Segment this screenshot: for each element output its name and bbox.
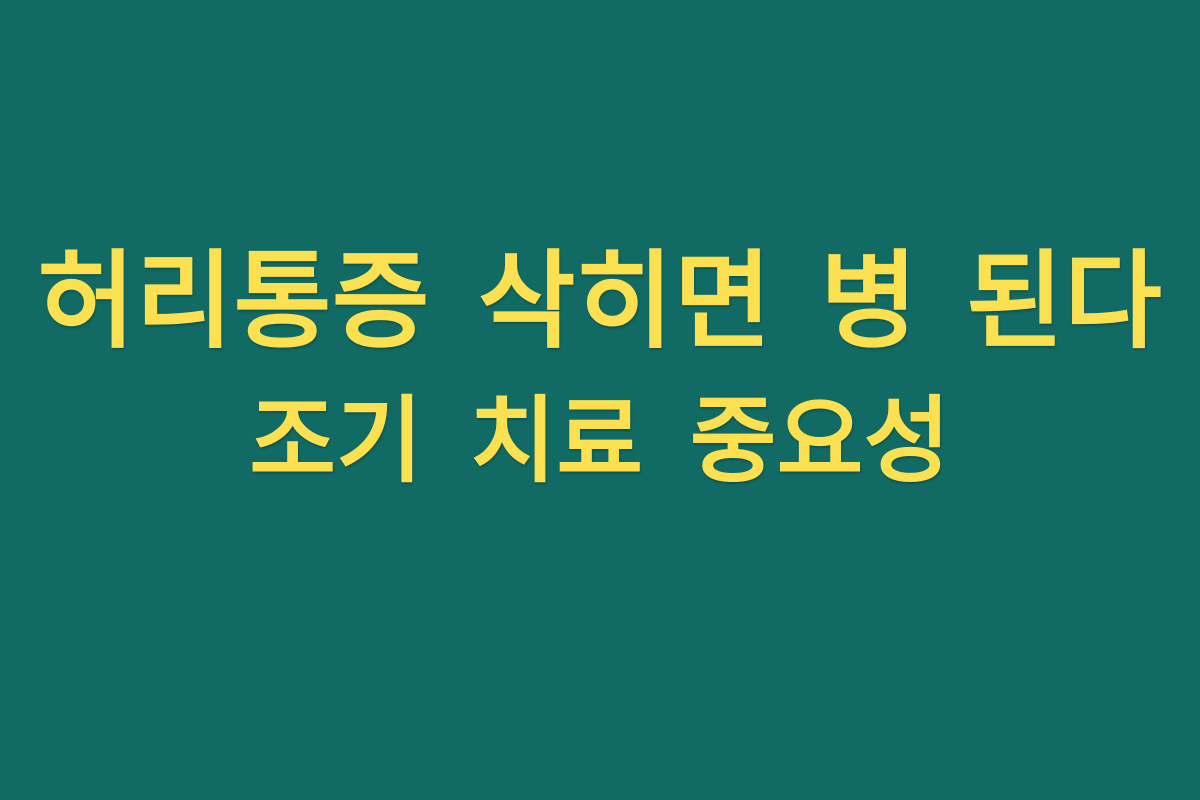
headline-block: 허리통증 삭히면 병 된다 조기 치료 중요성 [0, 249, 1200, 489]
banner-canvas: 허리통증 삭히면 병 된다 조기 치료 중요성 [0, 0, 1200, 800]
headline-line-secondary: 조기 치료 중요성 [249, 395, 950, 489]
headline-line-primary: 허리통증 삭히면 병 된다 [38, 249, 1163, 355]
